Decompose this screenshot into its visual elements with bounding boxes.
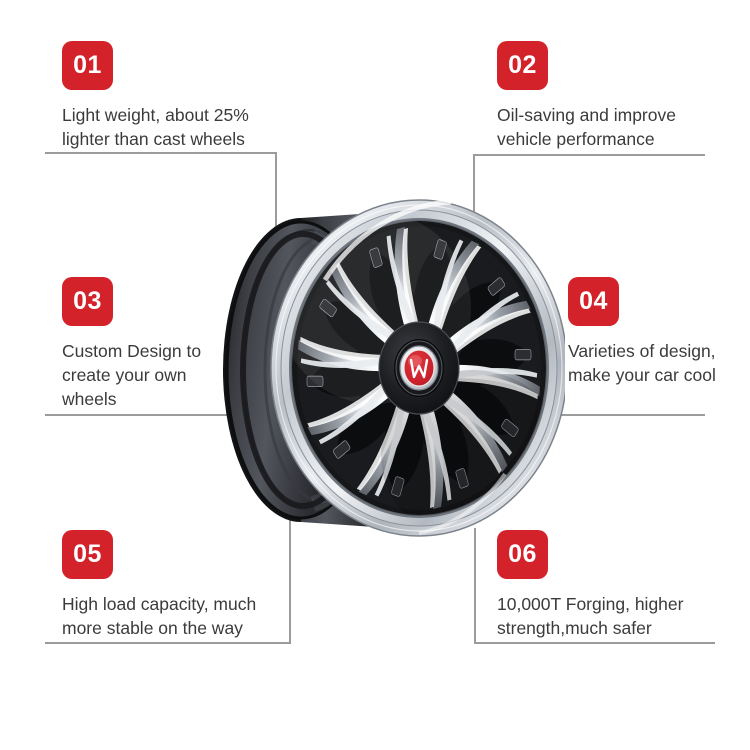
- feature-text-03: Custom Design to create your own wheels: [62, 339, 297, 411]
- feature-badge-05: 05: [62, 530, 113, 579]
- feature-block-01: 01 Light weight, about 25% lighter than …: [62, 41, 297, 151]
- feature-text-06: 10,000T Forging, higher strength,much sa…: [497, 592, 732, 640]
- feature-block-06: 06 10,000T Forging, higher strength,much…: [497, 530, 732, 640]
- wheel-hub: [379, 322, 459, 414]
- feature-badge-06: 06: [497, 530, 548, 579]
- feature-text-01: Light weight, about 25% lighter than cas…: [62, 103, 297, 151]
- feature-badge-02: 02: [497, 41, 548, 90]
- feature-text-02: Oil-saving and improve vehicle performan…: [497, 103, 732, 151]
- feature-text-05: High load capacity, much more stable on …: [62, 592, 297, 640]
- center-cap-logo: [400, 346, 438, 390]
- feature-text-04: Varieties of design, make your car cool: [568, 339, 750, 387]
- feature-badge-01: 01: [62, 41, 113, 90]
- feature-block-05: 05 High load capacity, much more stable …: [62, 530, 297, 640]
- feature-block-03: 03 Custom Design to create your own whee…: [62, 277, 297, 411]
- feature-badge-04: 04: [568, 277, 619, 326]
- feature-badge-03: 03: [62, 277, 113, 326]
- feature-block-02: 02 Oil-saving and improve vehicle perfor…: [497, 41, 732, 151]
- infographic-root: 01 Light weight, about 25% lighter than …: [0, 0, 750, 750]
- feature-block-04: 04 Varieties of design, make your car co…: [568, 277, 750, 387]
